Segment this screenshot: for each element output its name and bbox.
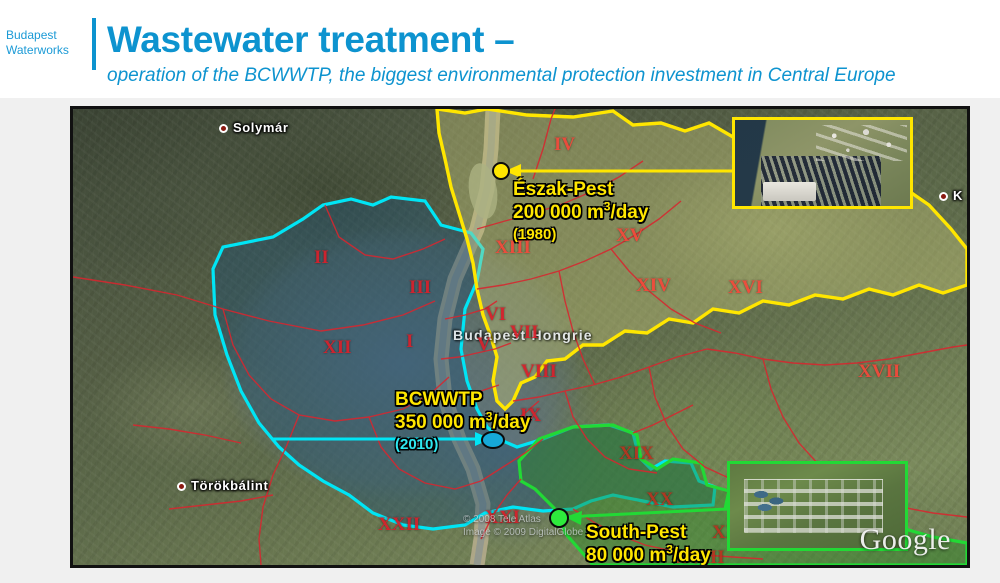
north-pest-capacity-suffix: /day <box>610 202 648 223</box>
bcwwtp-capacity-suffix: /day <box>492 412 530 433</box>
north-pest-capacity: 200 000 m3/day <box>513 201 648 225</box>
bcwwtp-capacity-value: 350 000 <box>395 412 464 433</box>
bcwwtp-name: BCWWTP <box>395 389 530 411</box>
place-marker-torokbalint <box>177 482 186 491</box>
bcwwtp-capacity-unit: m <box>469 412 486 433</box>
header-divider <box>92 18 96 70</box>
callout-north-pest: Észak-Pest 200 000 m3/day (1980) <box>513 179 648 244</box>
slide-footer <box>0 568 1000 583</box>
south-pest-name: South-Pest <box>586 522 711 544</box>
north-pest-capacity-value: 200 000 <box>513 202 582 223</box>
north-pest-capacity-unit: m <box>587 202 604 223</box>
north-pest-year: (1980) <box>513 225 648 244</box>
satellite-map[interactable]: Solymár Törökbálint K Budapest Hongrie I… <box>70 106 970 568</box>
callout-south-pest: South-Pest 80 000 m3/day (1966) <box>586 522 711 568</box>
south-pest-capacity: 80 000 m3/day <box>586 544 711 568</box>
north-pest-name: Észak-Pest <box>513 179 648 201</box>
brand-line-2: Waterworks <box>6 43 88 58</box>
slide-header: Budapest Waterworks Wastewater treatment… <box>0 0 1000 98</box>
attribution-line-2: Image © 2009 DigitalGlobe <box>463 526 583 539</box>
brand-line-1: Budapest <box>6 28 88 43</box>
place-marker-solymar <box>219 124 228 133</box>
north-pest-aerial-photo <box>735 120 910 206</box>
south-pest-capacity-value: 80 000 <box>586 545 644 566</box>
inset-photo-north-pest-plant[interactable] <box>732 117 913 209</box>
south-pest-capacity-unit: m <box>649 545 666 566</box>
attribution-line-1: © 2008 Tele Atlas <box>463 513 583 526</box>
brand-logo: Budapest Waterworks <box>6 28 88 58</box>
bcwwtp-year: (2010) <box>395 435 530 454</box>
bcwwtp-capacity: 350 000 m3/day <box>395 411 530 435</box>
callout-bcwwtp: BCWWTP 350 000 m3/day (2010) <box>395 389 530 454</box>
google-watermark: Google <box>860 523 951 557</box>
page-subtitle: operation of the BCWWTP, the biggest env… <box>107 64 896 88</box>
south-pest-capacity-suffix: /day <box>673 545 711 566</box>
page-title: Wastewater treatment – <box>107 18 514 62</box>
place-marker-k <box>939 192 948 201</box>
map-attribution: © 2008 Tele Atlas Image © 2009 DigitalGl… <box>463 513 583 539</box>
